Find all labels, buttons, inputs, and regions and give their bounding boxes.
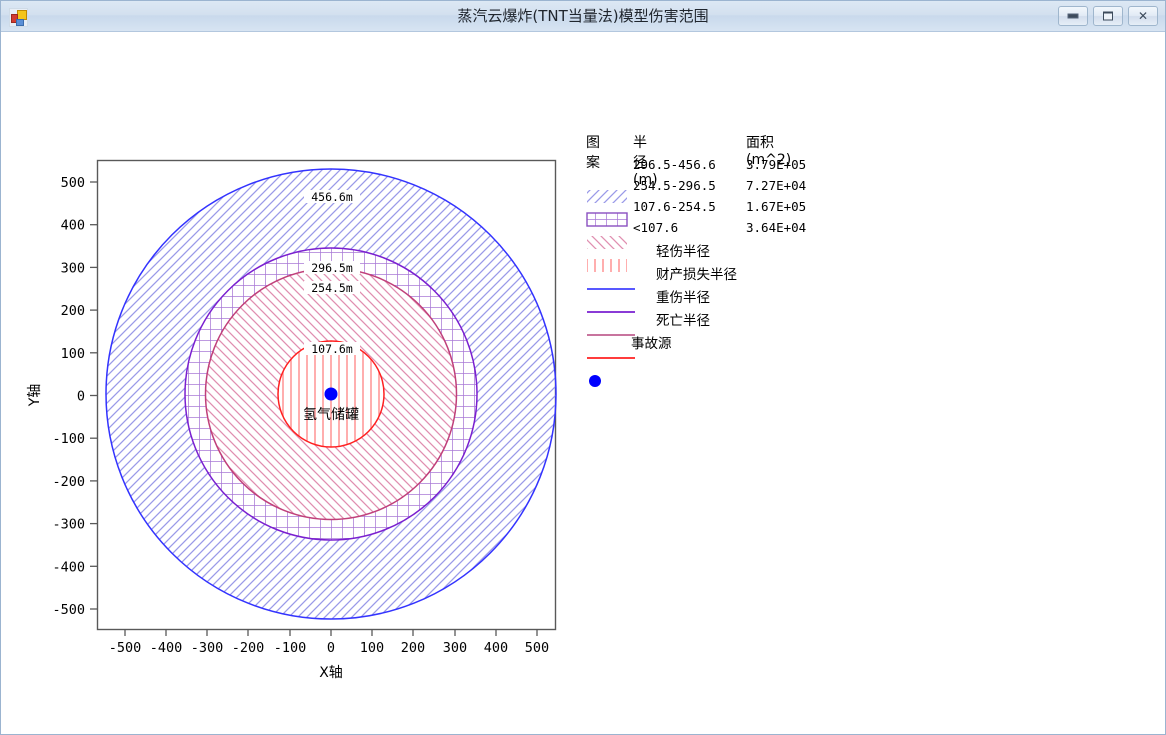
x-tick-4: -100: [274, 640, 307, 656]
annotation-254: 254.5m: [311, 281, 353, 295]
legend-area-3: 3.64E+04: [746, 220, 806, 235]
y-tick-8: -300: [52, 517, 85, 533]
client-area: 456.6m 296.5m 254.5m 107.6m 氢气储罐: [1, 32, 1165, 734]
y-tick-3: 200: [61, 303, 85, 319]
accident-source-marker: [325, 388, 338, 401]
x-tick-0: -500: [109, 640, 142, 656]
minimize-button[interactable]: [1058, 6, 1088, 26]
close-icon: ✕: [1138, 10, 1148, 22]
x-tick-7: 200: [401, 640, 425, 656]
application-window: 蒸汽云爆炸(TNT当量法)模型伤害范围 ✕: [0, 0, 1166, 735]
legend-label-serious-injury: 重伤半径: [656, 286, 710, 306]
x-tick-9: 400: [484, 640, 508, 656]
legend-header-pattern: 图案: [586, 132, 600, 172]
legend-swatch-vertical: [587, 259, 627, 272]
legend-line-samples: [587, 289, 635, 358]
annotation-296: 296.5m: [311, 261, 353, 275]
y-tick-0: 500: [61, 175, 85, 191]
legend-label-property-loss: 财产损失半径: [656, 263, 737, 283]
window-title: 蒸汽云爆炸(TNT当量法)模型伤害范围: [1, 1, 1165, 32]
y-tick-2: 300: [61, 260, 85, 276]
y-tick-1: 400: [61, 218, 85, 234]
y-tick-9: -400: [52, 559, 85, 575]
x-tick-labels: -500 -400 -300 -200 -100 0 100 200 300 4…: [109, 640, 549, 656]
x-tick-5: 0: [327, 640, 335, 656]
legend-marker-accident-source: [589, 375, 601, 387]
legend-area-2: 1.67E+05: [746, 199, 806, 214]
annotation-456: 456.6m: [311, 190, 353, 204]
x-tick-1: -400: [150, 640, 183, 656]
legend-radius-1: 254.5-296.5: [633, 178, 716, 193]
x-tick-3: -200: [232, 640, 265, 656]
maximize-icon: [1103, 12, 1113, 21]
y-axis-label: Y轴: [27, 384, 43, 408]
minimize-icon: [1068, 14, 1079, 19]
legend-swatches: [587, 190, 627, 272]
x-tick-2: -300: [191, 640, 224, 656]
legend-radius-0: 296.5-456.6: [633, 157, 716, 172]
x-tick-8: 300: [443, 640, 467, 656]
chart-svg: 456.6m 296.5m 254.5m 107.6m 氢气储罐: [1, 32, 1165, 734]
legend-label-accident-source: 事故源: [631, 332, 672, 352]
y-axis: [90, 182, 97, 609]
source-label: 氢气储罐: [303, 407, 359, 423]
x-tick-10: 500: [525, 640, 549, 656]
legend-label-light-injury: 轻伤半径: [656, 240, 710, 260]
legend-swatch-forward-diagonal: [587, 190, 627, 203]
legend-radius-3: <107.6: [633, 220, 678, 235]
y-tick-5: 0: [77, 389, 85, 405]
y-tick-10: -500: [52, 602, 85, 618]
legend-swatch-backward-diagonal: [587, 236, 627, 249]
maximize-button[interactable]: [1093, 6, 1123, 26]
legend-area-0: 3.79E+05: [746, 157, 806, 172]
legend-area-1: 7.27E+04: [746, 178, 806, 193]
y-tick-4: 100: [61, 346, 85, 362]
x-tick-6: 100: [360, 640, 384, 656]
legend-swatch-cross-hatch: [587, 213, 627, 226]
window-controls: ✕: [1058, 6, 1158, 26]
legend-radius-2: 107.6-254.5: [633, 199, 716, 214]
close-button[interactable]: ✕: [1128, 6, 1158, 26]
annotation-107: 107.6m: [311, 342, 353, 356]
y-tick-6: -100: [52, 431, 85, 447]
damage-range-chart: 456.6m 296.5m 254.5m 107.6m 氢气储罐: [1, 32, 1165, 734]
title-bar[interactable]: 蒸汽云爆炸(TNT当量法)模型伤害范围 ✕: [1, 1, 1165, 32]
y-tick-labels: 500 400 300 200 100 0 -100 -200 -300 -40…: [52, 175, 85, 618]
y-tick-7: -200: [52, 474, 85, 490]
legend-label-death: 死亡半径: [656, 309, 710, 329]
x-axis-label: X轴: [319, 665, 343, 681]
